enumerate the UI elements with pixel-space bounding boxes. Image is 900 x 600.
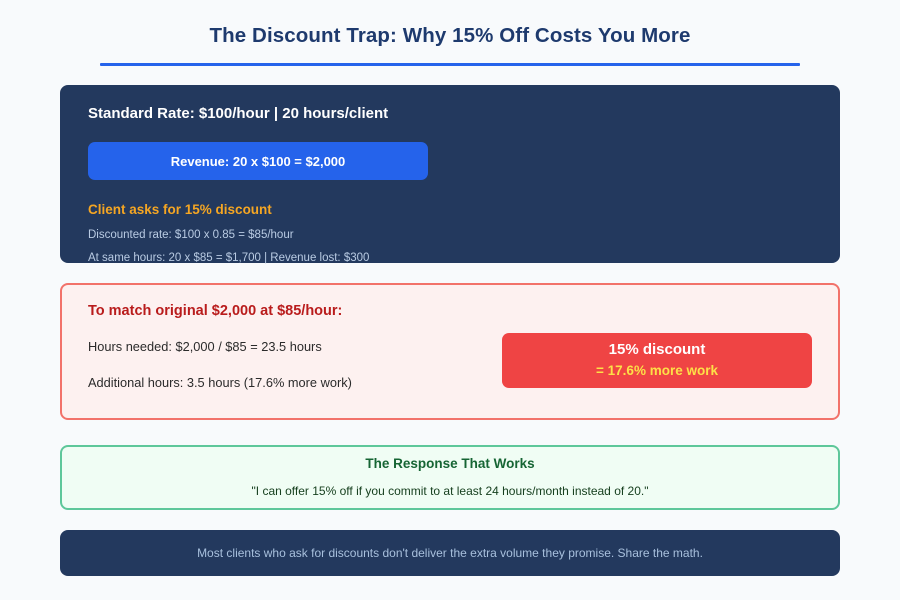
hours-needed-line: Hours needed: $2,000 / $85 = 23.5 hours: [88, 339, 508, 356]
response-panel: The Response That Works "I can offer 15%…: [60, 445, 840, 510]
page-title: The Discount Trap: Why 15% Off Costs You…: [0, 24, 900, 49]
discounted-rate-line: Discounted rate: $100 x 0.85 = $85/hour: [88, 228, 812, 244]
badge-more-work-label: = 17.6% more work: [596, 362, 718, 380]
footer-banner: Most clients who ask for discounts don't…: [60, 530, 840, 576]
response-heading: The Response That Works: [365, 456, 534, 472]
title-underline-divider: [100, 63, 800, 66]
standard-rate-heading: Standard Rate: $100/hour | 20 hours/clie…: [88, 105, 812, 123]
footer-text: Most clients who ask for discounts don't…: [197, 546, 703, 560]
standard-rate-panel: Standard Rate: $100/hour | 20 hours/clie…: [60, 85, 840, 263]
revenue-bar: Revenue: 20 x $100 = $2,000: [88, 142, 428, 180]
badge-discount-label: 15% discount: [609, 341, 706, 360]
revenue-bar-label: Revenue: 20 x $100 = $2,000: [171, 154, 346, 169]
response-quote: "I can offer 15% off if you commit to at…: [252, 484, 649, 498]
infographic-page: The Discount Trap: Why 15% Off Costs You…: [0, 0, 900, 600]
match-revenue-text-column: To match original $2,000 at $85/hour: Ho…: [88, 303, 508, 392]
match-revenue-panel: To match original $2,000 at $85/hour: Ho…: [60, 283, 840, 420]
discount-impact-badge: 15% discount = 17.6% more work: [502, 333, 812, 388]
additional-hours-line: Additional hours: 3.5 hours (17.6% more …: [88, 375, 508, 392]
revenue-lost-line: At same hours: 20 x $85 = $1,700 | Reven…: [88, 251, 812, 267]
match-revenue-heading: To match original $2,000 at $85/hour:: [88, 303, 508, 320]
client-discount-request-heading: Client asks for 15% discount: [88, 202, 812, 217]
header: The Discount Trap: Why 15% Off Costs You…: [0, 0, 900, 66]
